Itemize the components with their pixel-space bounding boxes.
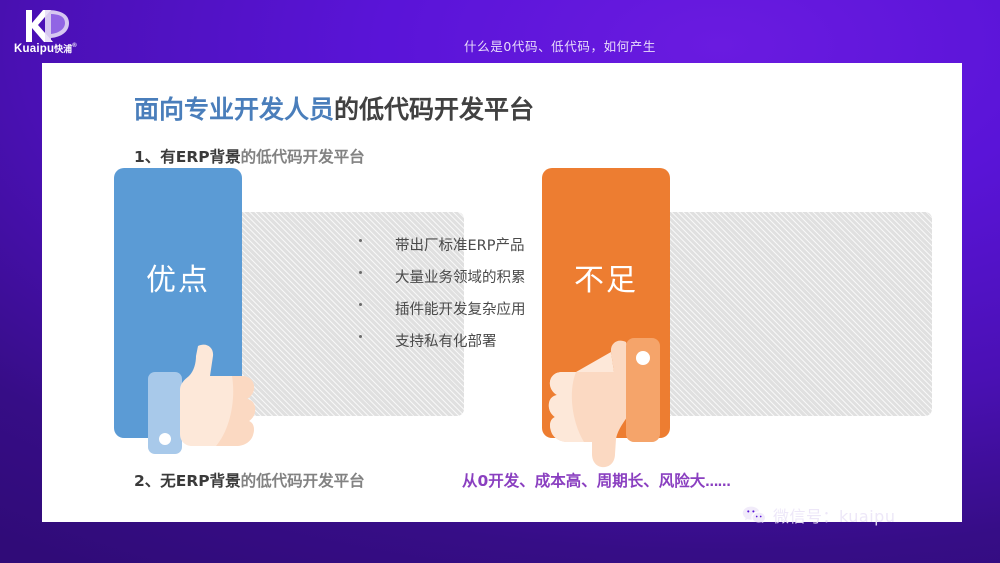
wechat-watermark-label: 微信号：kuaipu [773,503,895,527]
wechat-icon [742,505,766,525]
page-title: 面向专业开发人员的低代码开发平台 [134,90,534,126]
section-heading-2-soft: 的低代码开发平台 [241,472,365,490]
section-heading-1-soft: 的低代码开发平台 [241,148,365,166]
section-heading-1: 1、有ERP背景的低代码开发平台 [134,145,365,167]
bullet-dot-icon [359,303,362,306]
page-title-rest: 的低代码开发平台 [334,95,534,124]
wechat-watermark: 微信号：kuaipu [742,503,895,527]
bullet-dot-icon [359,335,362,338]
pros-item-label: 插件能开发复杂应用 [395,302,526,318]
list-item: 插件能开发复杂应用 [359,294,569,326]
pros-block: 优点 带出厂标准ERP产品 大量业务领域的积累 插件能开发复杂应用 支持私有化部… [104,168,464,438]
list-item: 带出厂标准ERP产品 [359,230,569,262]
thumbs-up-icon [146,338,306,458]
tagline-text: 从0开发、成本高、周期长、风险大 [462,472,705,490]
tagline-ellipsis: …… [705,475,730,490]
cons-label: 不足 [574,255,638,299]
list-item: 大量业务领域的积累 [359,262,569,294]
cons-hatch-panel [660,212,932,416]
pros-item-label: 带出厂标准ERP产品 [395,238,524,254]
cons-block: 不足 需专业编程人员开发； 标准逻辑不可见、不可改，只能有限的扩展 移动无法实现… [532,168,932,438]
section-heading-2-strong: 2、无ERP背景 [134,472,241,490]
bullet-dot-icon [359,239,362,242]
pros-item-label: 大量业务领域的积累 [395,270,526,286]
header-caption: 什么是0代码、低代码，如何产生 [0,36,1000,55]
pros-item-label: 支持私有化部署 [395,334,497,350]
page-title-highlight: 面向专业开发人员 [134,95,334,124]
section-heading-2: 2、无ERP背景的低代码开发平台 [134,469,365,491]
thumbs-down-icon [522,336,692,471]
section-heading-1-strong: 1、有ERP背景 [134,148,241,166]
bullet-dot-icon [359,271,362,274]
pros-label: 优点 [146,255,210,299]
slide-canvas: 面向专业开发人员的低代码开发平台 1、有ERP背景的低代码开发平台 优点 带出厂… [42,63,962,522]
tagline: 从0开发、成本高、周期长、风险大…… [462,469,730,491]
